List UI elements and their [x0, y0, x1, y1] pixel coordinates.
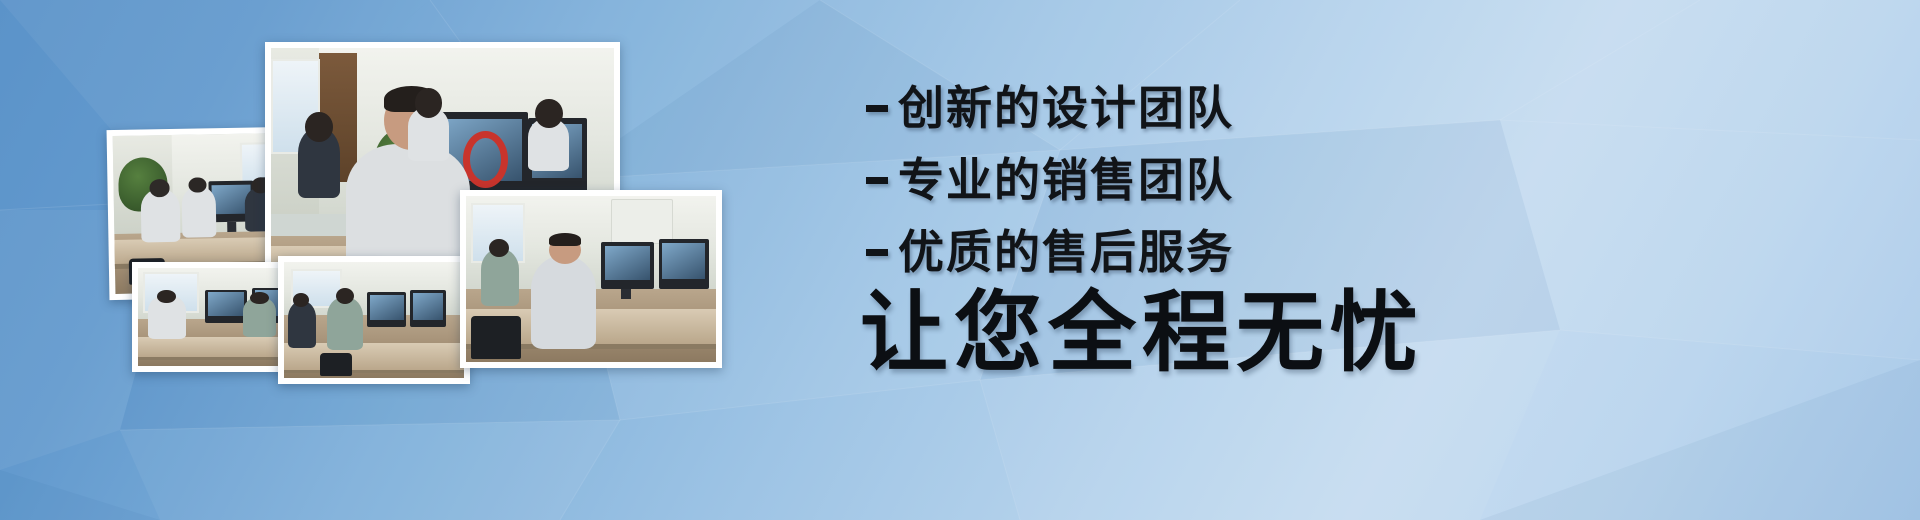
bullet-dash-icon: [866, 105, 888, 112]
bullet-text-3: 优质的售后服务: [898, 229, 1234, 275]
collage-photo-5-image: [466, 196, 716, 362]
collage-photo-5[interactable]: [460, 190, 722, 368]
bullet-dash-icon: [866, 177, 888, 184]
bullet-item-2: 专业的销售团队: [866, 144, 1406, 216]
collage-photo-4-image: [284, 262, 464, 378]
collage-photo-4[interactable]: [278, 256, 470, 384]
photo-collage: [0, 0, 760, 520]
bullet-text-2: 专业的销售团队: [898, 157, 1234, 203]
headline: 让您全程无忧: [860, 288, 1424, 376]
promo-banner: 创新的设计团队 专业的销售团队 优质的售后服务 让您全程无忧: [0, 0, 1920, 520]
bullet-dash-icon: [866, 249, 888, 256]
banner-copy: 创新的设计团队 专业的销售团队 优质的售后服务 让您全程无忧: [860, 0, 1920, 520]
bullet-item-3: 优质的售后服务: [866, 216, 1406, 288]
bullet-text-1: 创新的设计团队: [898, 85, 1234, 131]
bullet-list: 创新的设计团队 专业的销售团队 优质的售后服务: [866, 72, 1406, 288]
bullet-item-1: 创新的设计团队: [866, 72, 1406, 144]
